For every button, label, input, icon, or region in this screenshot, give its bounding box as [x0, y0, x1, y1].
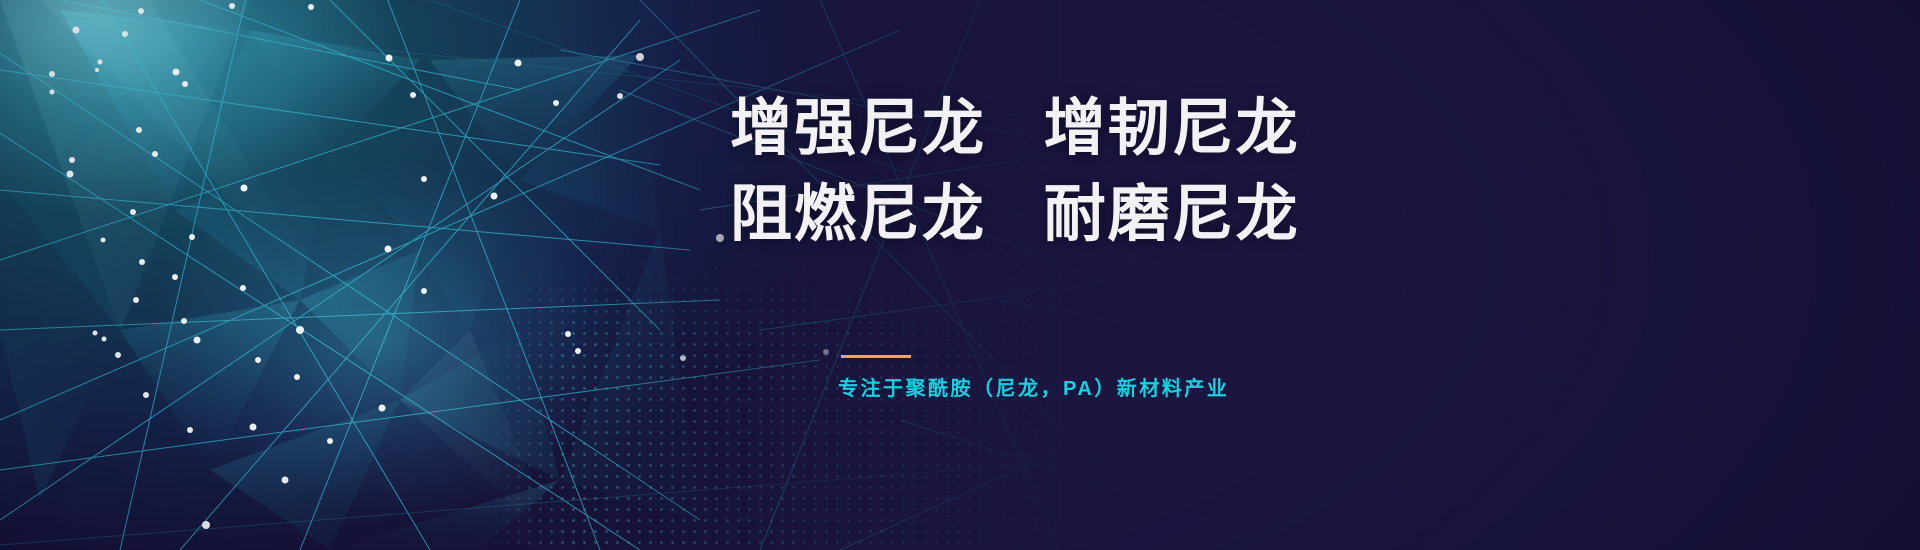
banner-subtitle: 专注于聚酰胺（尼龙，PA）新材料产业 [838, 372, 1229, 401]
orange-divider [841, 355, 911, 358]
hero-banner: 增强尼龙 增韧尼龙 阻燃尼龙 耐磨尼龙 专注于聚酰胺（尼龙，PA）新材料产业 [0, 0, 1920, 550]
headline-line-1: 增强尼龙 增韧尼龙 [730, 86, 1300, 172]
headline-line-2: 阻燃尼龙 耐磨尼龙 [730, 172, 1300, 258]
headline-block: 增强尼龙 增韧尼龙 阻燃尼龙 耐磨尼龙 [730, 86, 1300, 258]
banner-content: 增强尼龙 增韧尼龙 阻燃尼龙 耐磨尼龙 专注于聚酰胺（尼龙，PA）新材料产业 [730, 0, 1730, 550]
divider-wrapper [841, 355, 911, 358]
